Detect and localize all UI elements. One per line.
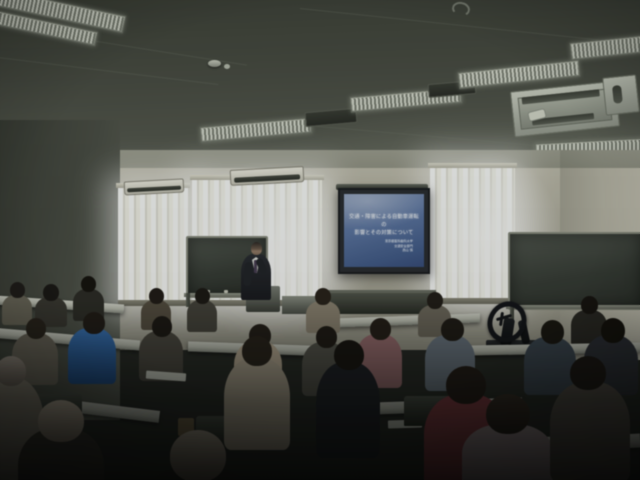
audience-body bbox=[2, 295, 32, 325]
presenter bbox=[238, 238, 274, 310]
audience-head bbox=[26, 318, 46, 339]
smoke-detector-sensor bbox=[224, 64, 230, 69]
audience-head bbox=[316, 326, 337, 348]
audience-head bbox=[170, 430, 226, 480]
projection-screen-frame: 交通・障害による自動車運転の 影響とその対策について 東京都医科歯科大学 交通安… bbox=[338, 188, 430, 274]
audience-head bbox=[195, 288, 210, 304]
front-table-edge bbox=[324, 290, 436, 293]
audience-head bbox=[370, 318, 391, 340]
audience-head bbox=[446, 366, 486, 404]
audience-head bbox=[541, 320, 564, 344]
audience-head bbox=[486, 394, 530, 434]
audience-body bbox=[68, 328, 116, 384]
projected-slide: 交通・障害による自動車運転の 影響とその対策について 東京都医科歯科大学 交通安… bbox=[344, 194, 424, 267]
slide-title-line-1: 交通・障害による自動車運転の bbox=[348, 213, 420, 229]
ceiling-cassette-ac-side bbox=[602, 74, 640, 115]
blackboard-right bbox=[508, 232, 640, 310]
audience-head bbox=[38, 400, 84, 442]
smoke-detector bbox=[208, 60, 221, 67]
audience-head bbox=[427, 292, 443, 309]
audience-body bbox=[550, 382, 630, 480]
audience-head bbox=[0, 356, 26, 386]
slide-title: 交通・障害による自動車運転の 影響とその対策について bbox=[348, 213, 420, 237]
chalk-tray bbox=[506, 305, 640, 309]
audience-body bbox=[316, 362, 380, 458]
audience-head bbox=[83, 312, 105, 334]
cassette-vent bbox=[612, 85, 623, 104]
audience-head bbox=[601, 318, 625, 343]
audience-head bbox=[242, 336, 272, 366]
audience-body bbox=[187, 300, 217, 332]
chalk-piece bbox=[224, 290, 228, 293]
audience-head bbox=[441, 318, 464, 341]
lecture-hall-photo: 交通・障害による自動車運転の 影響とその対策について 東京都医科歯科大学 交通安… bbox=[0, 0, 640, 480]
audience-head bbox=[152, 316, 172, 337]
audience-head bbox=[334, 340, 364, 370]
presenter-head bbox=[251, 242, 262, 255]
slide-title-line-2: 影響とその対策について bbox=[348, 229, 420, 237]
audience-head bbox=[315, 288, 331, 305]
slide-sub-line-3: 西山 慎 bbox=[385, 248, 413, 253]
audience-head bbox=[81, 276, 96, 292]
audience-head bbox=[43, 284, 59, 301]
vertical-blinds-right bbox=[430, 166, 515, 302]
audience-head bbox=[10, 282, 25, 298]
blind-headrail bbox=[428, 163, 517, 168]
audience-head bbox=[149, 288, 164, 304]
slide-subtitle: 東京都医科歯科大学 交通安全部門 西山 慎 bbox=[385, 239, 413, 253]
audience-head bbox=[581, 296, 598, 314]
audience-head bbox=[570, 356, 606, 390]
audience-body bbox=[224, 358, 290, 450]
